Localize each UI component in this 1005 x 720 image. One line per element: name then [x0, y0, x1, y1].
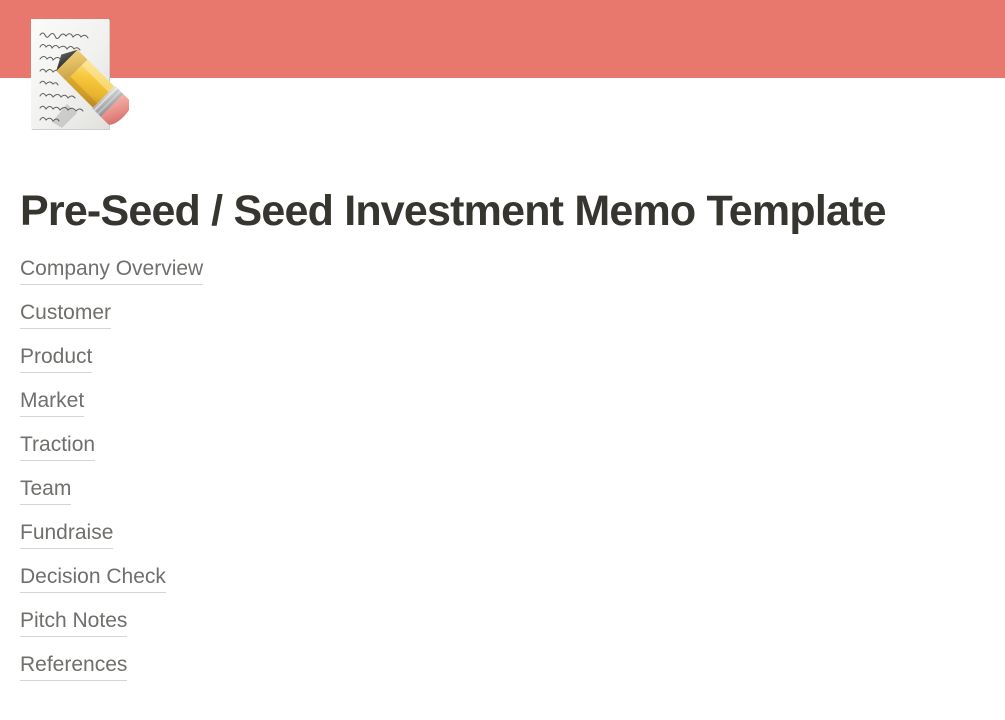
list-item: Customer — [20, 300, 985, 344]
toc-link-traction[interactable]: Traction — [20, 432, 95, 461]
toc-link-customer[interactable]: Customer — [20, 300, 111, 329]
list-item: Market — [20, 388, 985, 432]
memo-emoji-icon[interactable] — [30, 18, 129, 134]
toc-link-references[interactable]: References — [20, 652, 127, 681]
table-of-contents: Company Overview Customer Product Market… — [20, 256, 985, 696]
toc-link-pitch-notes[interactable]: Pitch Notes — [20, 608, 127, 637]
list-item: Company Overview — [20, 256, 985, 300]
toc-link-company-overview[interactable]: Company Overview — [20, 256, 203, 285]
list-item: Decision Check — [20, 564, 985, 608]
list-item: Product — [20, 344, 985, 388]
toc-link-market[interactable]: Market — [20, 388, 84, 417]
page-title[interactable]: Pre-Seed / Seed Investment Memo Template — [20, 78, 985, 234]
page-cover-banner[interactable] — [0, 0, 1005, 78]
list-item: Fundraise — [20, 520, 985, 564]
toc-link-decision-check[interactable]: Decision Check — [20, 564, 166, 593]
list-item: Pitch Notes — [20, 608, 985, 652]
list-item: Team — [20, 476, 985, 520]
toc-link-fundraise[interactable]: Fundraise — [20, 520, 113, 549]
list-item: References — [20, 652, 985, 696]
page-content: Pre-Seed / Seed Investment Memo Template… — [0, 78, 1005, 720]
toc-link-product[interactable]: Product — [20, 344, 92, 373]
toc-link-team[interactable]: Team — [20, 476, 71, 505]
list-item: Traction — [20, 432, 985, 476]
